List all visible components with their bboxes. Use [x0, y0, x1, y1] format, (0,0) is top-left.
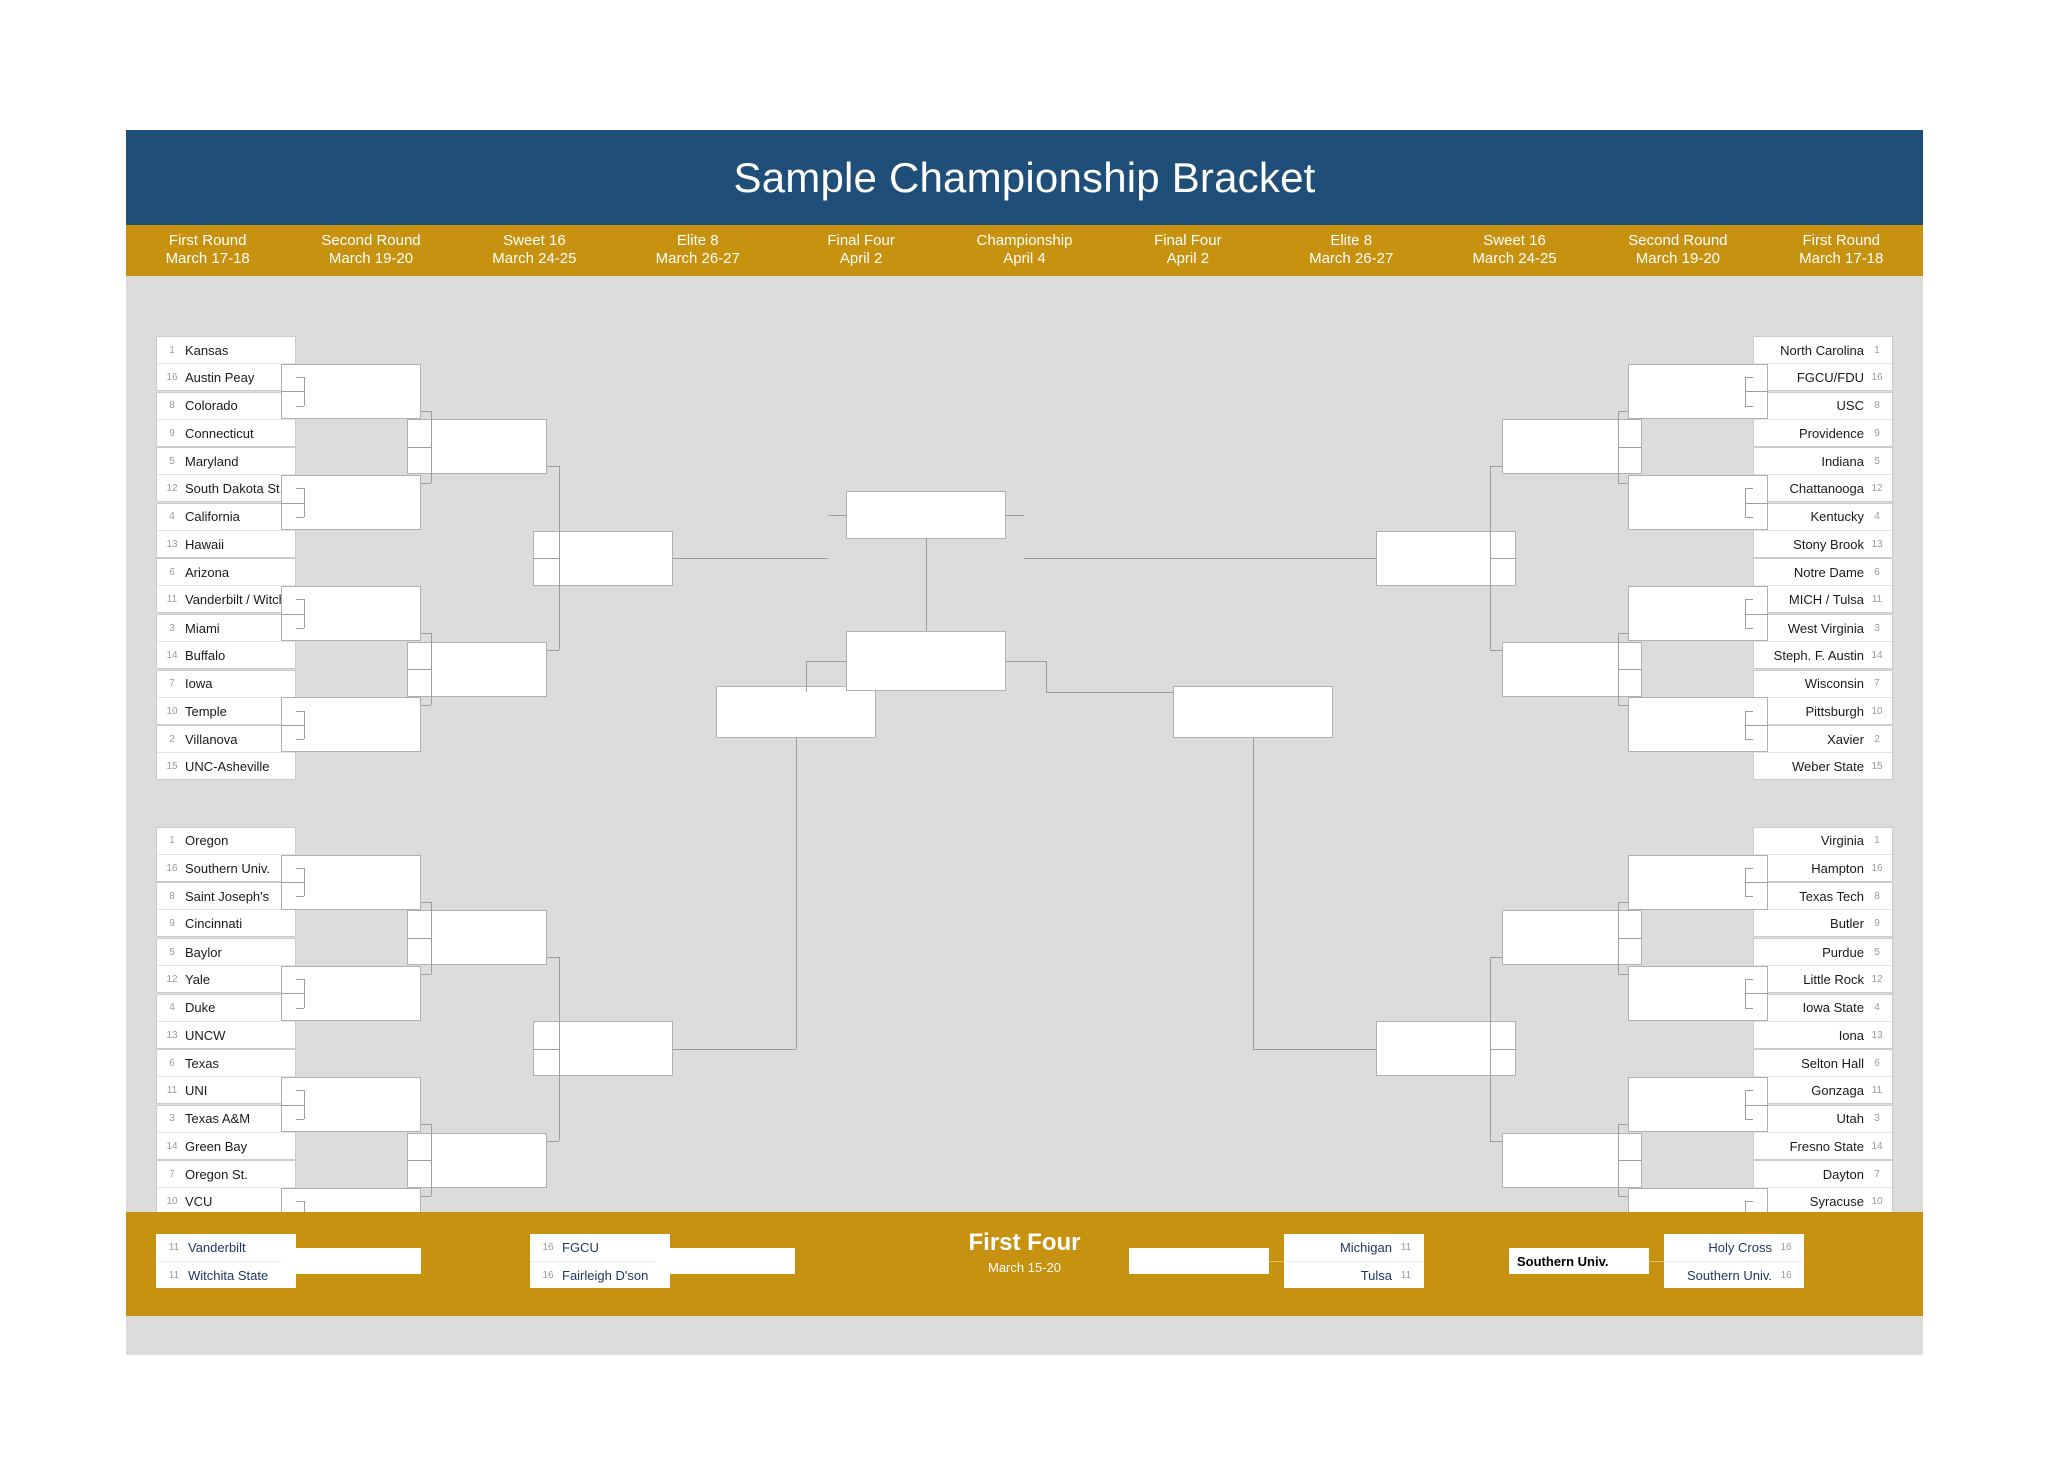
- team-seed: 12: [163, 974, 181, 985]
- first-four-winner-left[interactable]: [281, 1248, 421, 1274]
- matchup-box[interactable]: 3Texas A&M14Green Bay: [156, 1105, 296, 1160]
- round-dates: April 2: [1106, 250, 1269, 268]
- first-four-matchup-mid-left[interactable]: 16FGCU16Fairleigh D'son: [530, 1234, 670, 1288]
- first-four-team-slot[interactable]: Michigan11: [1284, 1234, 1424, 1262]
- connector-h: [828, 515, 846, 516]
- team-seed: 11: [1396, 1270, 1416, 1281]
- round-name: Elite 8: [1270, 232, 1433, 250]
- team-seed: 10: [163, 1196, 181, 1207]
- team-name: Cincinnati: [181, 916, 289, 931]
- connector-h: [1490, 558, 1516, 559]
- first-four-team-slot[interactable]: 11Vanderbilt: [156, 1234, 296, 1262]
- round-name: Championship: [943, 232, 1106, 250]
- round-dates: March 24-25: [1433, 250, 1596, 268]
- matchup-box[interactable]: West Virginia3Steph. F. Austin14: [1753, 614, 1893, 669]
- round-name: Sweet 16: [453, 232, 616, 250]
- team-slot[interactable]: Wisconsin7: [1754, 671, 1892, 698]
- round-name: Second Round: [289, 232, 452, 250]
- connector-v: [304, 979, 305, 1008]
- connector-h: [1745, 979, 1753, 980]
- team-seed: 4: [163, 511, 181, 522]
- team-slot[interactable]: 1Oregon: [157, 828, 295, 855]
- team-name: Iowa: [181, 676, 289, 691]
- final-four-left-slot[interactable]: [716, 686, 876, 738]
- connector-h: [673, 558, 828, 559]
- team-name: Holy Cross: [1672, 1240, 1776, 1255]
- connector-h: [281, 993, 304, 994]
- matchup-box[interactable]: Kentucky4Stony Brook13: [1753, 503, 1893, 558]
- team-name: West Virginia: [1760, 621, 1868, 636]
- team-seed: 11: [164, 1242, 184, 1253]
- team-name: Pittsburgh: [1760, 704, 1868, 719]
- team-slot[interactable]: 1Kansas: [157, 337, 295, 364]
- connector-h: [1490, 957, 1502, 958]
- connector-h: [1745, 1105, 1768, 1106]
- round-header-bar: First RoundMarch 17-18Second RoundMarch …: [126, 225, 1923, 276]
- team-slot[interactable]: Butler9: [1754, 910, 1892, 937]
- team-slot[interactable]: 7Oregon St.: [157, 1161, 295, 1188]
- connector-h: [1618, 705, 1628, 706]
- connector-h: [1745, 406, 1753, 407]
- round-header-10: Second RoundMarch 19-20: [1596, 225, 1759, 276]
- matchup-box[interactable]: 4Duke13UNCW: [156, 994, 296, 1049]
- connector-h: [806, 661, 846, 662]
- matchup-box[interactable]: USC8Providence9: [1753, 392, 1893, 447]
- matchup-box[interactable]: North Carolina1FGCU/FDU16: [1753, 336, 1893, 391]
- round-dates: March 24-25: [453, 250, 616, 268]
- round-header-1: First RoundMarch 17-18: [126, 225, 289, 276]
- team-slot[interactable]: 11UNI: [157, 1077, 295, 1104]
- first-four-matchup-mid-right[interactable]: Michigan11Tulsa11: [1284, 1234, 1424, 1288]
- team-name: Texas A&M: [181, 1111, 289, 1126]
- team-slot[interactable]: 6Texas: [157, 1050, 295, 1077]
- matchup-box[interactable]: 8Saint Joseph's9Cincinnati: [156, 882, 296, 937]
- connector-h: [1046, 692, 1173, 693]
- team-slot[interactable]: Iowa State4: [1754, 995, 1892, 1022]
- connector-h: [1745, 614, 1768, 615]
- team-seed: 6: [163, 567, 181, 578]
- round-header-9: Sweet 16March 24-25: [1433, 225, 1596, 276]
- team-slot[interactable]: Chattanooga12: [1754, 475, 1892, 502]
- team-slot[interactable]: 8Saint Joseph's: [157, 883, 295, 910]
- round-name: Elite 8: [616, 232, 779, 250]
- team-slot[interactable]: 9Connecticut: [157, 420, 295, 447]
- team-slot[interactable]: Indiana5: [1754, 448, 1892, 475]
- team-seed: 6: [1868, 567, 1886, 578]
- matchup-box[interactable]: 1Oregon16Southern Univ.: [156, 827, 296, 882]
- team-name: Syracuse: [1760, 1194, 1868, 1209]
- connector-h: [1745, 711, 1753, 712]
- team-name: Hampton: [1760, 861, 1868, 876]
- connector-h: [1745, 882, 1768, 883]
- connector-h: [547, 466, 559, 467]
- team-name: Tulsa: [1292, 1268, 1396, 1283]
- team-seed: 14: [163, 650, 181, 661]
- team-name: Virginia: [1760, 833, 1868, 848]
- team-slot[interactable]: 3Miami: [157, 615, 295, 642]
- matchup-box[interactable]: 6Texas11UNI: [156, 1049, 296, 1104]
- first-four-matchup-right[interactable]: Holy Cross16Southern Univ.16: [1664, 1234, 1804, 1288]
- team-seed: 11: [163, 594, 181, 605]
- round-dates: March 17-18: [1760, 250, 1923, 268]
- team-slot[interactable]: 14Buffalo: [157, 642, 295, 669]
- team-name: UNI: [181, 1083, 289, 1098]
- connector-h: [296, 1090, 304, 1091]
- team-seed: 11: [164, 1270, 184, 1281]
- team-name: Fresno State: [1760, 1139, 1868, 1154]
- team-name: Little Rock: [1760, 972, 1868, 987]
- team-slot[interactable]: Hampton16: [1754, 855, 1892, 882]
- connector-h: [1745, 1008, 1753, 1009]
- first-four-team-slot[interactable]: 11Witchita State: [156, 1262, 296, 1289]
- connector-h: [1745, 725, 1768, 726]
- team-name: Texas: [181, 1056, 289, 1071]
- connector-h: [281, 725, 304, 726]
- connector-v: [1046, 661, 1047, 692]
- connector-h: [1745, 1090, 1753, 1091]
- team-slot[interactable]: Selton Hall6: [1754, 1050, 1892, 1077]
- round-header-8: Elite 8March 26-27: [1270, 225, 1433, 276]
- connector-h: [1006, 661, 1046, 662]
- team-slot[interactable]: 10Temple: [157, 698, 295, 725]
- team-seed: 15: [163, 761, 181, 772]
- team-seed: 3: [1868, 623, 1886, 634]
- team-name: Notre Dame: [1760, 565, 1868, 580]
- team-seed: 8: [1868, 891, 1886, 902]
- team-name: Temple: [181, 704, 289, 719]
- team-slot[interactable]: Notre Dame6: [1754, 559, 1892, 586]
- team-slot[interactable]: 4California: [157, 504, 295, 531]
- first-four-winner-mid-right[interactable]: [1129, 1248, 1269, 1274]
- matchup-box[interactable]: 7Oregon St.10VCU: [156, 1160, 296, 1215]
- team-name: Hawaii: [181, 537, 289, 552]
- first-four-title: First Four: [932, 1228, 1117, 1258]
- bracket-field: 1Kansas16Austin Peay8Colorado9Connecticu…: [126, 276, 1923, 1212]
- connector-h: [1745, 488, 1753, 489]
- matchup-box[interactable]: 5Baylor12Yale: [156, 938, 296, 993]
- team-slot[interactable]: 5Baylor: [157, 939, 295, 966]
- team-slot[interactable]: 6Arizona: [157, 559, 295, 586]
- connector-h: [421, 1196, 431, 1197]
- first-four-winner-right[interactable]: Southern Univ.: [1509, 1248, 1649, 1274]
- team-slot[interactable]: Weber State15: [1754, 753, 1892, 780]
- matchup-box[interactable]: Notre Dame6MICH / Tulsa11: [1753, 558, 1893, 613]
- team-slot[interactable]: 15UNC-Asheville: [157, 753, 295, 780]
- team-name: Yale: [181, 972, 289, 987]
- connector-h: [1618, 1124, 1628, 1125]
- connector-h: [296, 979, 304, 980]
- connector-h: [1745, 993, 1768, 994]
- team-slot[interactable]: Xavier2: [1754, 726, 1892, 753]
- round-name: Final Four: [779, 232, 942, 250]
- round-header-11: First RoundMarch 17-18: [1760, 225, 1923, 276]
- team-name: Maryland: [181, 454, 289, 469]
- connector-h: [421, 633, 431, 634]
- team-slot[interactable]: Kentucky4: [1754, 504, 1892, 531]
- team-seed: 8: [1868, 400, 1886, 411]
- connector-h: [1745, 896, 1753, 897]
- team-seed: 14: [1868, 650, 1886, 661]
- team-name: Buffalo: [181, 648, 289, 663]
- team-name: Southern Univ.: [181, 861, 289, 876]
- connector-h: [421, 411, 431, 412]
- team-seed: 6: [163, 1058, 181, 1069]
- round-header-2: Second RoundMarch 19-20: [289, 225, 452, 276]
- bracket-card: Sample Championship Bracket First RoundM…: [126, 130, 1923, 1355]
- connector-h: [296, 739, 304, 740]
- connector-h: [1745, 391, 1768, 392]
- team-slot[interactable]: 13Hawaii: [157, 531, 295, 558]
- team-slot[interactable]: Little Rock12: [1754, 966, 1892, 993]
- team-name: Witchita State: [184, 1268, 288, 1283]
- round-name: Final Four: [1106, 232, 1269, 250]
- connector-h: [407, 1160, 431, 1161]
- team-name: Oregon St.: [181, 1167, 289, 1182]
- team-seed: 1: [1868, 345, 1886, 356]
- connector-h: [1618, 1196, 1628, 1197]
- connector-v: [431, 1124, 432, 1196]
- team-slot[interactable]: 7Iowa: [157, 671, 295, 698]
- connector-h: [281, 391, 304, 392]
- team-slot[interactable]: Purdue5: [1754, 939, 1892, 966]
- team-seed: 11: [163, 1085, 181, 1096]
- team-slot[interactable]: Providence9: [1754, 420, 1892, 447]
- team-slot[interactable]: 16Austin Peay: [157, 364, 295, 391]
- matchup-box[interactable]: Purdue5Little Rock12: [1753, 938, 1893, 993]
- connector-v: [304, 1090, 305, 1119]
- team-name: Vanderbilt: [184, 1240, 288, 1255]
- team-seed: 13: [163, 539, 181, 550]
- team-name: Butler: [1760, 916, 1868, 931]
- connector-h: [547, 650, 559, 651]
- team-slot[interactable]: North Carolina1: [1754, 337, 1892, 364]
- team-seed: 16: [1868, 372, 1886, 383]
- team-name: UNCW: [181, 1028, 289, 1043]
- team-name: Stony Brook: [1760, 537, 1868, 552]
- team-name: Saint Joseph's: [181, 889, 289, 904]
- connector-v: [431, 411, 432, 483]
- connector-h: [1253, 1049, 1376, 1050]
- matchup-box[interactable]: Utah3Fresno State14: [1753, 1105, 1893, 1160]
- team-name: Connecticut: [181, 426, 289, 441]
- connector-h: [1006, 515, 1024, 516]
- team-name: Southern Univ.: [1672, 1268, 1776, 1283]
- team-name: Weber State: [1760, 759, 1868, 774]
- team-slot[interactable]: Texas Tech8: [1754, 883, 1892, 910]
- matchup-box[interactable]: 7Iowa10Temple: [156, 670, 296, 725]
- team-seed: 4: [163, 1002, 181, 1013]
- connector-h: [421, 483, 431, 484]
- team-slot[interactable]: 9Cincinnati: [157, 910, 295, 937]
- matchup-box[interactable]: Iowa State4Iona13: [1753, 994, 1893, 1049]
- team-slot[interactable]: Virginia1: [1754, 828, 1892, 855]
- connector-h: [1618, 483, 1628, 484]
- first-four-team-slot[interactable]: Tulsa11: [1284, 1262, 1424, 1289]
- team-slot[interactable]: FGCU/FDU16: [1754, 364, 1892, 391]
- team-slot[interactable]: Utah3: [1754, 1106, 1892, 1133]
- connector-h: [407, 447, 431, 448]
- round-dates: March 26-27: [616, 250, 779, 268]
- matchup-box[interactable]: Wisconsin7Pittsburgh10: [1753, 670, 1893, 725]
- matchup-box[interactable]: Texas Tech8Butler9: [1753, 882, 1893, 937]
- team-seed: 14: [1868, 1141, 1886, 1152]
- team-seed: 12: [163, 483, 181, 494]
- team-name: South Dakota St.: [181, 481, 289, 496]
- connector-h: [1024, 558, 1376, 559]
- connector-h: [1490, 1049, 1516, 1050]
- matchup-box[interactable]: 1Kansas16Austin Peay: [156, 336, 296, 391]
- team-slot[interactable]: Dayton7: [1754, 1161, 1892, 1188]
- team-seed: 4: [1868, 1002, 1886, 1013]
- connector-v: [559, 466, 560, 649]
- team-seed: 7: [163, 678, 181, 689]
- connector-h: [281, 503, 304, 504]
- round-header-6: ChampionshipApril 4: [943, 225, 1106, 276]
- team-slot[interactable]: 13UNCW: [157, 1022, 295, 1049]
- connector-h: [1618, 669, 1642, 670]
- team-slot[interactable]: 12South Dakota St.: [157, 475, 295, 502]
- team-seed: 5: [1868, 947, 1886, 958]
- team-seed: 8: [163, 891, 181, 902]
- connector-v: [559, 957, 560, 1140]
- team-seed: 10: [163, 706, 181, 717]
- team-seed: 16: [1868, 863, 1886, 874]
- first-four-team-slot[interactable]: 16Fairleigh D'son: [530, 1262, 670, 1289]
- team-name: Wisconsin: [1760, 676, 1868, 691]
- team-name: Duke: [181, 1000, 289, 1015]
- matchup-box[interactable]: Indiana5Chattanooga12: [1753, 447, 1893, 502]
- first-four-matchup-left[interactable]: 11Vanderbilt11Witchita State: [156, 1234, 296, 1288]
- team-slot[interactable]: MICH / Tulsa11: [1754, 586, 1892, 613]
- team-slot[interactable]: 8Colorado: [157, 393, 295, 420]
- matchup-box[interactable]: 5Maryland12South Dakota St.: [156, 447, 296, 502]
- connector-v: [1253, 738, 1254, 1049]
- connector-v: [304, 711, 305, 740]
- connector-h: [1618, 1160, 1642, 1161]
- first-four-team-slot[interactable]: Southern Univ.16: [1664, 1262, 1804, 1289]
- first-four-team-slot[interactable]: 16FGCU: [530, 1234, 670, 1262]
- connector-h: [281, 1105, 304, 1106]
- matchup-box[interactable]: 8Colorado9Connecticut: [156, 392, 296, 447]
- connector-h: [296, 711, 304, 712]
- final-four-right-slot[interactable]: [1173, 686, 1333, 738]
- connector-h: [1745, 628, 1753, 629]
- team-name: North Carolina: [1760, 343, 1868, 358]
- round-dates: April 2: [779, 250, 942, 268]
- team-name: Colorado: [181, 398, 289, 413]
- matchup-box[interactable]: Virginia1Hampton16: [1753, 827, 1893, 882]
- team-seed: 2: [1868, 734, 1886, 745]
- connector-h: [281, 614, 304, 615]
- first-four-team-slot[interactable]: Holy Cross16: [1664, 1234, 1804, 1262]
- team-seed: 1: [1868, 835, 1886, 846]
- round-header-7: Final FourApril 2: [1106, 225, 1269, 276]
- first-four-title-block: First Four March 15-20: [932, 1228, 1117, 1278]
- connector-h: [296, 628, 304, 629]
- connector-v: [304, 488, 305, 517]
- connector-h: [296, 1119, 304, 1120]
- team-slot[interactable]: Gonzaga11: [1754, 1077, 1892, 1104]
- round-name: Second Round: [1596, 232, 1759, 250]
- title-banner: Sample Championship Bracket: [126, 130, 1923, 225]
- team-slot[interactable]: Steph. F. Austin14: [1754, 642, 1892, 669]
- team-slot[interactable]: 2Villanova: [157, 726, 295, 753]
- bracket-sheet: Sample Championship Bracket First RoundM…: [0, 0, 2048, 1463]
- matchup-box[interactable]: 6Arizona11Vanderbilt / Witchita: [156, 558, 296, 613]
- team-slot[interactable]: 11Vanderbilt / Witchita: [157, 586, 295, 613]
- team-seed: 5: [163, 947, 181, 958]
- round-dates: March 17-18: [126, 250, 289, 268]
- connector-h: [1745, 599, 1753, 600]
- round-header-4: Elite 8March 26-27: [616, 225, 779, 276]
- team-name: Selton Hall: [1760, 1056, 1868, 1071]
- team-name: California: [181, 509, 289, 524]
- connector-h: [421, 1124, 431, 1125]
- team-slot[interactable]: 16Southern Univ.: [157, 855, 295, 882]
- round-dates: March 19-20: [1596, 250, 1759, 268]
- team-name: Green Bay: [181, 1139, 289, 1154]
- team-name: Utah: [1760, 1111, 1868, 1126]
- team-seed: 16: [538, 1270, 558, 1281]
- team-seed: 3: [163, 623, 181, 634]
- team-slot[interactable]: 4Duke: [157, 995, 295, 1022]
- connector-h: [1618, 447, 1642, 448]
- team-slot[interactable]: 14Green Bay: [157, 1133, 295, 1160]
- team-slot[interactable]: West Virginia3: [1754, 615, 1892, 642]
- connector-h: [1745, 517, 1753, 518]
- connector-v: [304, 599, 305, 628]
- matchup-box[interactable]: 4California13Hawaii: [156, 503, 296, 558]
- connector-h: [296, 896, 304, 897]
- team-name: Michigan: [1292, 1240, 1396, 1255]
- team-seed: 5: [163, 456, 181, 467]
- team-seed: 11: [1868, 594, 1886, 605]
- connector-h: [296, 868, 304, 869]
- team-slot[interactable]: 5Maryland: [157, 448, 295, 475]
- matchup-box[interactable]: 3Miami14Buffalo: [156, 614, 296, 669]
- first-four-section: First Four March 15-20 11Vanderbilt11Wit…: [126, 1212, 1923, 1316]
- matchup-box[interactable]: 2Villanova15UNC-Asheville: [156, 725, 296, 780]
- team-name: Fairleigh D'son: [558, 1268, 662, 1283]
- connector-h: [1618, 633, 1628, 634]
- matchup-box[interactable]: Dayton7Syracuse10: [1753, 1160, 1893, 1215]
- matchup-box[interactable]: Selton Hall6Gonzaga11: [1753, 1049, 1893, 1104]
- team-name: Iowa State: [1760, 1000, 1868, 1015]
- team-slot[interactable]: Iona13: [1754, 1022, 1892, 1049]
- round-name: First Round: [126, 232, 289, 250]
- connector-v: [926, 539, 927, 631]
- team-slot[interactable]: 12Yale: [157, 966, 295, 993]
- first-four-winner-mid-left[interactable]: [655, 1248, 795, 1274]
- matchup-box[interactable]: Xavier2Weber State15: [1753, 725, 1893, 780]
- team-slot[interactable]: Pittsburgh10: [1754, 698, 1892, 725]
- team-seed: 10: [1868, 1196, 1886, 1207]
- connector-h: [1490, 1141, 1502, 1142]
- team-seed: 13: [1868, 1030, 1886, 1041]
- connector-h: [421, 902, 431, 903]
- team-slot[interactable]: Stony Brook13: [1754, 531, 1892, 558]
- team-slot[interactable]: 3Texas A&M: [157, 1106, 295, 1133]
- team-name: Iona: [1760, 1028, 1868, 1043]
- final-four-upper-slot[interactable]: [846, 491, 1006, 539]
- championship-slot[interactable]: [846, 631, 1006, 691]
- connector-h: [407, 938, 431, 939]
- team-slot[interactable]: USC8: [1754, 393, 1892, 420]
- team-slot[interactable]: Fresno State14: [1754, 1133, 1892, 1160]
- connector-h: [296, 1201, 304, 1202]
- team-seed: 3: [163, 1113, 181, 1124]
- round-dates: April 4: [943, 250, 1106, 268]
